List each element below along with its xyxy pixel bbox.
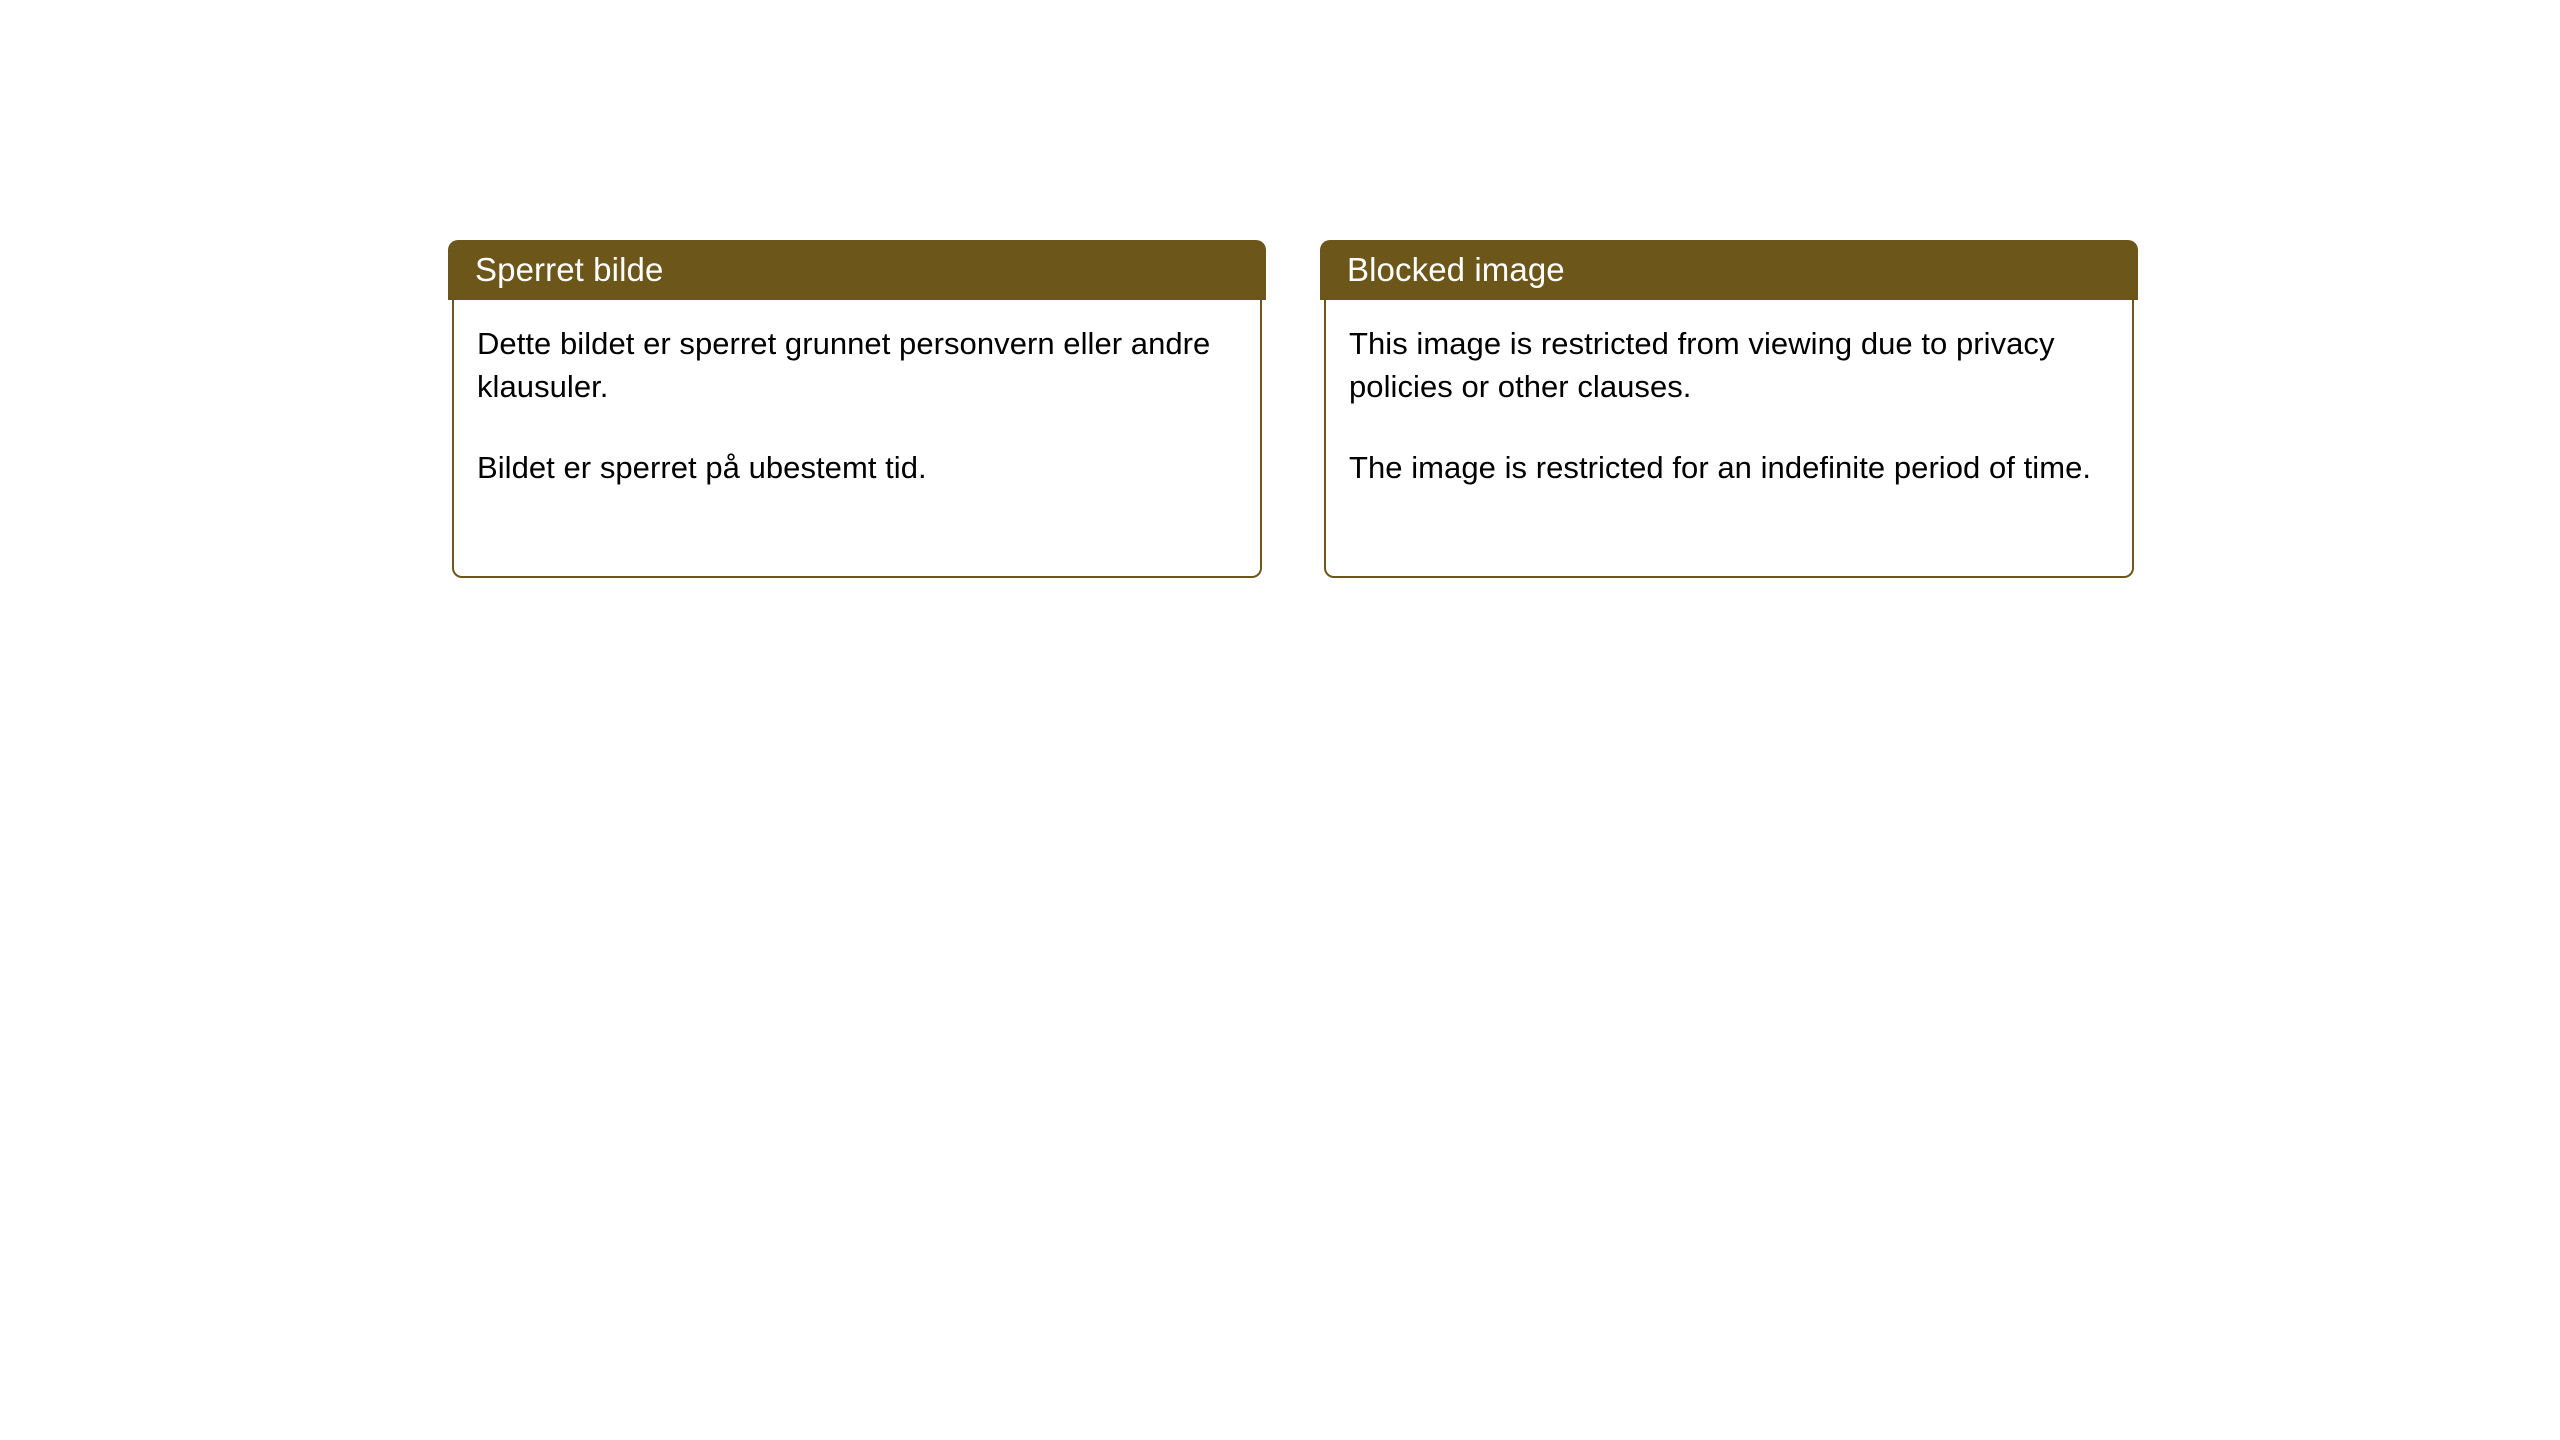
blocked-image-notice-card-english: Blocked image This image is restricted f… xyxy=(1324,240,2134,578)
card-paragraph-duration-english: The image is restricted for an indefinit… xyxy=(1349,446,2106,489)
card-header-norwegian: Sperret bilde xyxy=(448,240,1266,300)
card-header-english: Blocked image xyxy=(1320,240,2138,300)
page-root: Sperret bilde Dette bildet er sperret gr… xyxy=(0,0,2560,1440)
card-body-english: This image is restricted from viewing du… xyxy=(1324,300,2134,578)
card-paragraph-reason-english: This image is restricted from viewing du… xyxy=(1349,322,2106,408)
card-title-english: Blocked image xyxy=(1347,252,1565,288)
card-body-norwegian: Dette bildet er sperret grunnet personve… xyxy=(452,300,1262,578)
blocked-image-notice-card-norwegian: Sperret bilde Dette bildet er sperret gr… xyxy=(452,240,1262,578)
card-paragraph-reason-norwegian: Dette bildet er sperret grunnet personve… xyxy=(477,322,1234,408)
card-paragraph-duration-norwegian: Bildet er sperret på ubestemt tid. xyxy=(477,446,1234,489)
card-title-norwegian: Sperret bilde xyxy=(475,252,663,288)
